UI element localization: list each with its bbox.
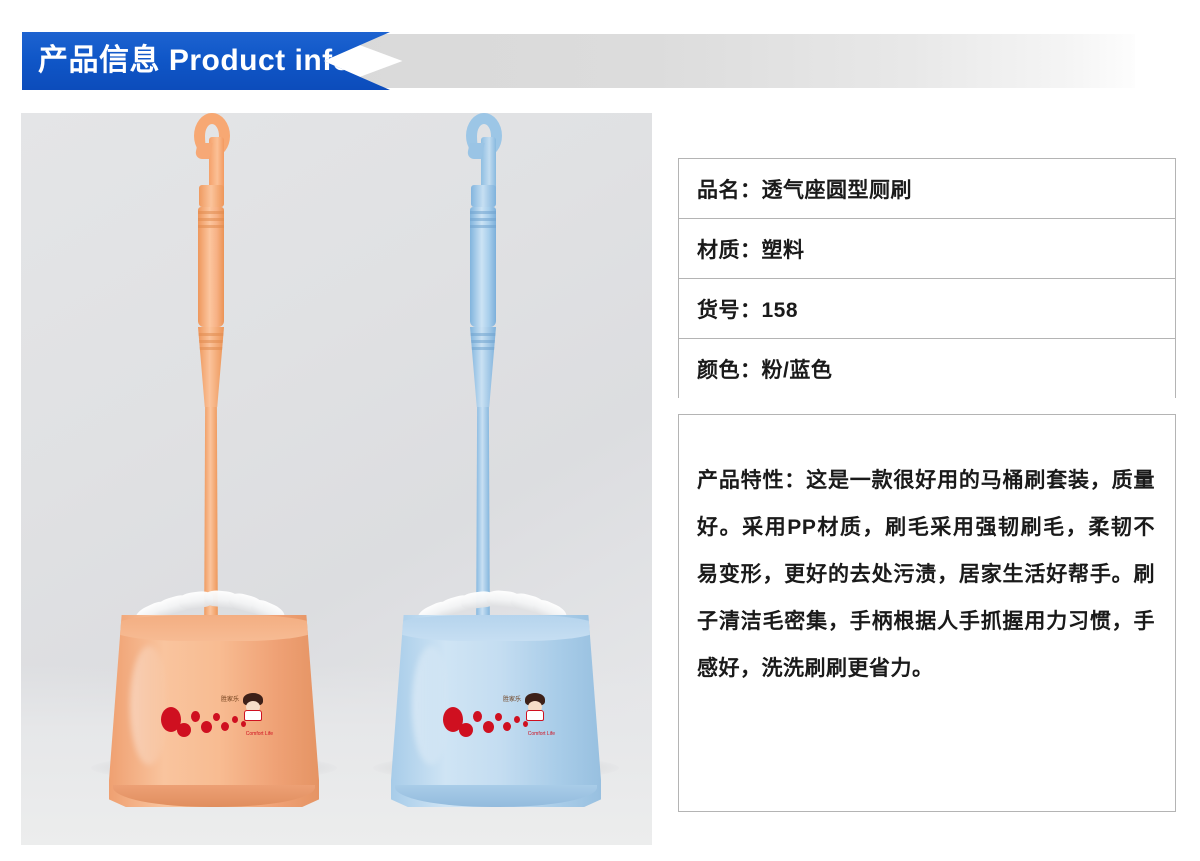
brand-decal: 胜家乐 Comfort Life — [443, 691, 561, 739]
spec-row-item-number: 货号：158 — [678, 278, 1176, 338]
blue-brush-handle — [453, 113, 513, 655]
decal-brand-text: 胜家乐 — [503, 697, 521, 704]
orange-base-foot — [113, 785, 315, 807]
orange-grip-taper — [198, 327, 224, 407]
blue-grip-upper — [470, 207, 496, 327]
orange-grip-upper — [198, 207, 224, 327]
product-image-blue-brush: 胜家乐 Comfort Life — [391, 615, 601, 807]
product-image-orange-brush: 胜家乐 Comfort Life — [109, 615, 319, 807]
banner-blue-arrow: 产品信息 Product information — [22, 32, 390, 90]
product-photo-panel: 胜家乐 Comfort Life — [21, 113, 652, 845]
blue-grip-taper — [470, 327, 496, 407]
blue-brush-base: 胜家乐 Comfort Life — [391, 615, 601, 807]
spec-value-item-number: 货号：158 — [697, 294, 798, 324]
product-description-cell: 产品特性：这是一款很好用的马桶刷套装，质量好。采用PP材质，刷毛采用强韧刷毛，柔… — [678, 414, 1176, 812]
orange-brush-base: 胜家乐 Comfort Life — [109, 615, 319, 807]
blue-grip-top — [471, 185, 496, 207]
decal-girl-icon — [523, 693, 547, 721]
spec-row-material: 材质：塑料 — [678, 218, 1176, 278]
page-header-banner: 产品信息 Product information — [0, 32, 1200, 90]
brand-decal: 胜家乐 Comfort Life — [161, 691, 279, 739]
spec-row-product-name: 品名：透气座圆型厕刷 — [678, 158, 1176, 218]
decal-girl-icon — [241, 693, 265, 721]
decal-brand-text: 胜家乐 — [221, 697, 239, 704]
blue-base-foot — [395, 785, 597, 807]
spec-row-color: 颜色：粉/蓝色 — [678, 338, 1176, 398]
product-info-panel: 品名：透气座圆型厕刷 材质：塑料 货号：158 颜色：粉/蓝色 产品特性：这是一… — [678, 158, 1176, 812]
spec-value-color: 颜色：粉/蓝色 — [697, 354, 832, 384]
orange-base-rim — [109, 615, 319, 641]
spec-value-product-name: 品名：透气座圆型厕刷 — [697, 174, 912, 204]
orange-brush-handle — [181, 113, 241, 655]
orange-grip-top — [199, 185, 224, 207]
blue-handle-hook — [460, 113, 506, 187]
banner-gray-tail — [330, 34, 1135, 88]
product-description-text: 产品特性：这是一款很好用的马桶刷套装，质量好。采用PP材质，刷毛采用强韧刷毛，柔… — [697, 457, 1155, 692]
spec-value-material: 材质：塑料 — [697, 234, 805, 264]
decal-brand-en: Comfort Life — [528, 732, 555, 738]
orange-handle-hook — [188, 113, 234, 187]
decal-brand-en: Comfort Life — [246, 732, 273, 738]
blue-base-rim — [391, 615, 601, 641]
